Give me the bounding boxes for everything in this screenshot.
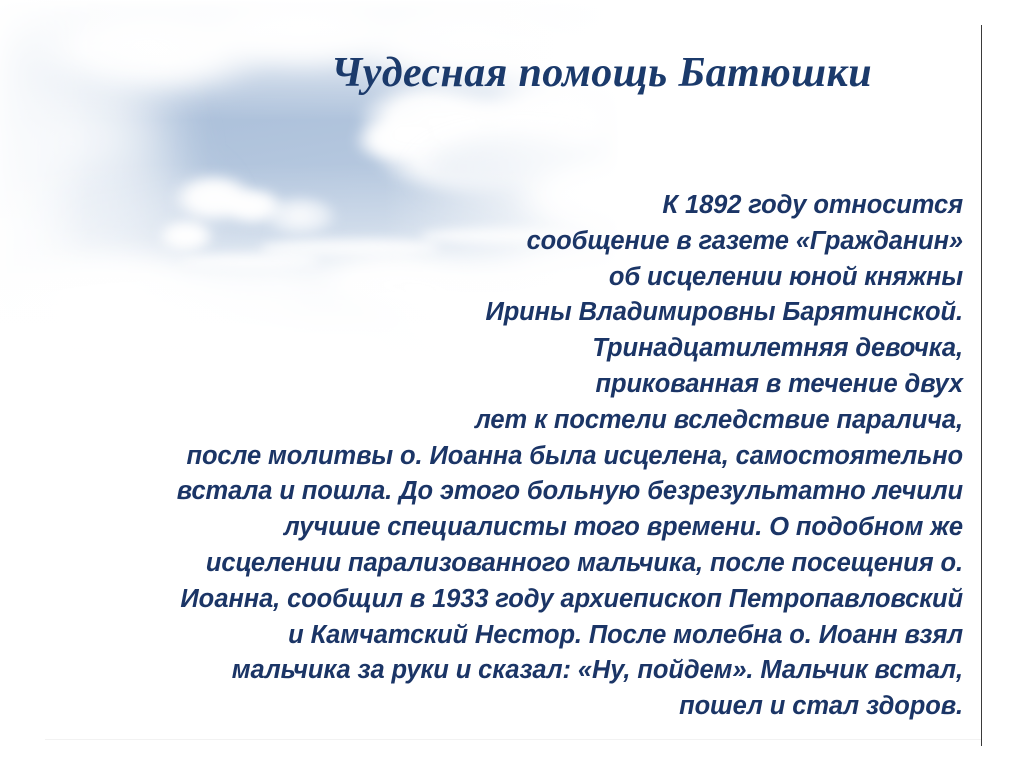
slide-title: Чудесная помощь Батюшки [0,48,872,98]
body-line: К 1892 году относится [60,188,963,224]
body-line: встала и пошла. До этого больную безрезу… [60,474,963,510]
vertical-divider-line [981,25,982,746]
body-line: об исцелении юной княжны [60,260,963,296]
slide-bottom-edge [45,739,981,740]
body-line: Тринадцатилетняя девочка, [60,331,963,367]
body-line: сообщение в газете «Гражданин» [60,224,963,260]
body-line: после молитвы о. Иоанна была исцелена, с… [60,439,963,475]
body-line: Иоанна, сообщил в 1933 году архиепископ … [60,582,963,618]
body-line: лет к постели вследствие паралича, [60,403,963,439]
slide-body-text: К 1892 году относится сообщение в газете… [60,188,963,725]
body-line: мальчика за руки и сказал: «Ну, пойдем».… [60,653,963,689]
body-line: и Камчатский Нестор. После молебна о. Ио… [60,618,963,654]
slide-canvas: Чудесная помощь Батюшки К 1892 году отно… [0,0,1024,768]
body-line: пошел и стал здоров. [60,689,963,725]
body-line: Ирины Владимировны Барятинской. [60,295,963,331]
body-line: прикованная в течение двух [60,367,963,403]
body-line: лучшие специалисты того времени. О подоб… [60,510,963,546]
body-line: исцелении парализованного мальчика, посл… [60,546,963,582]
